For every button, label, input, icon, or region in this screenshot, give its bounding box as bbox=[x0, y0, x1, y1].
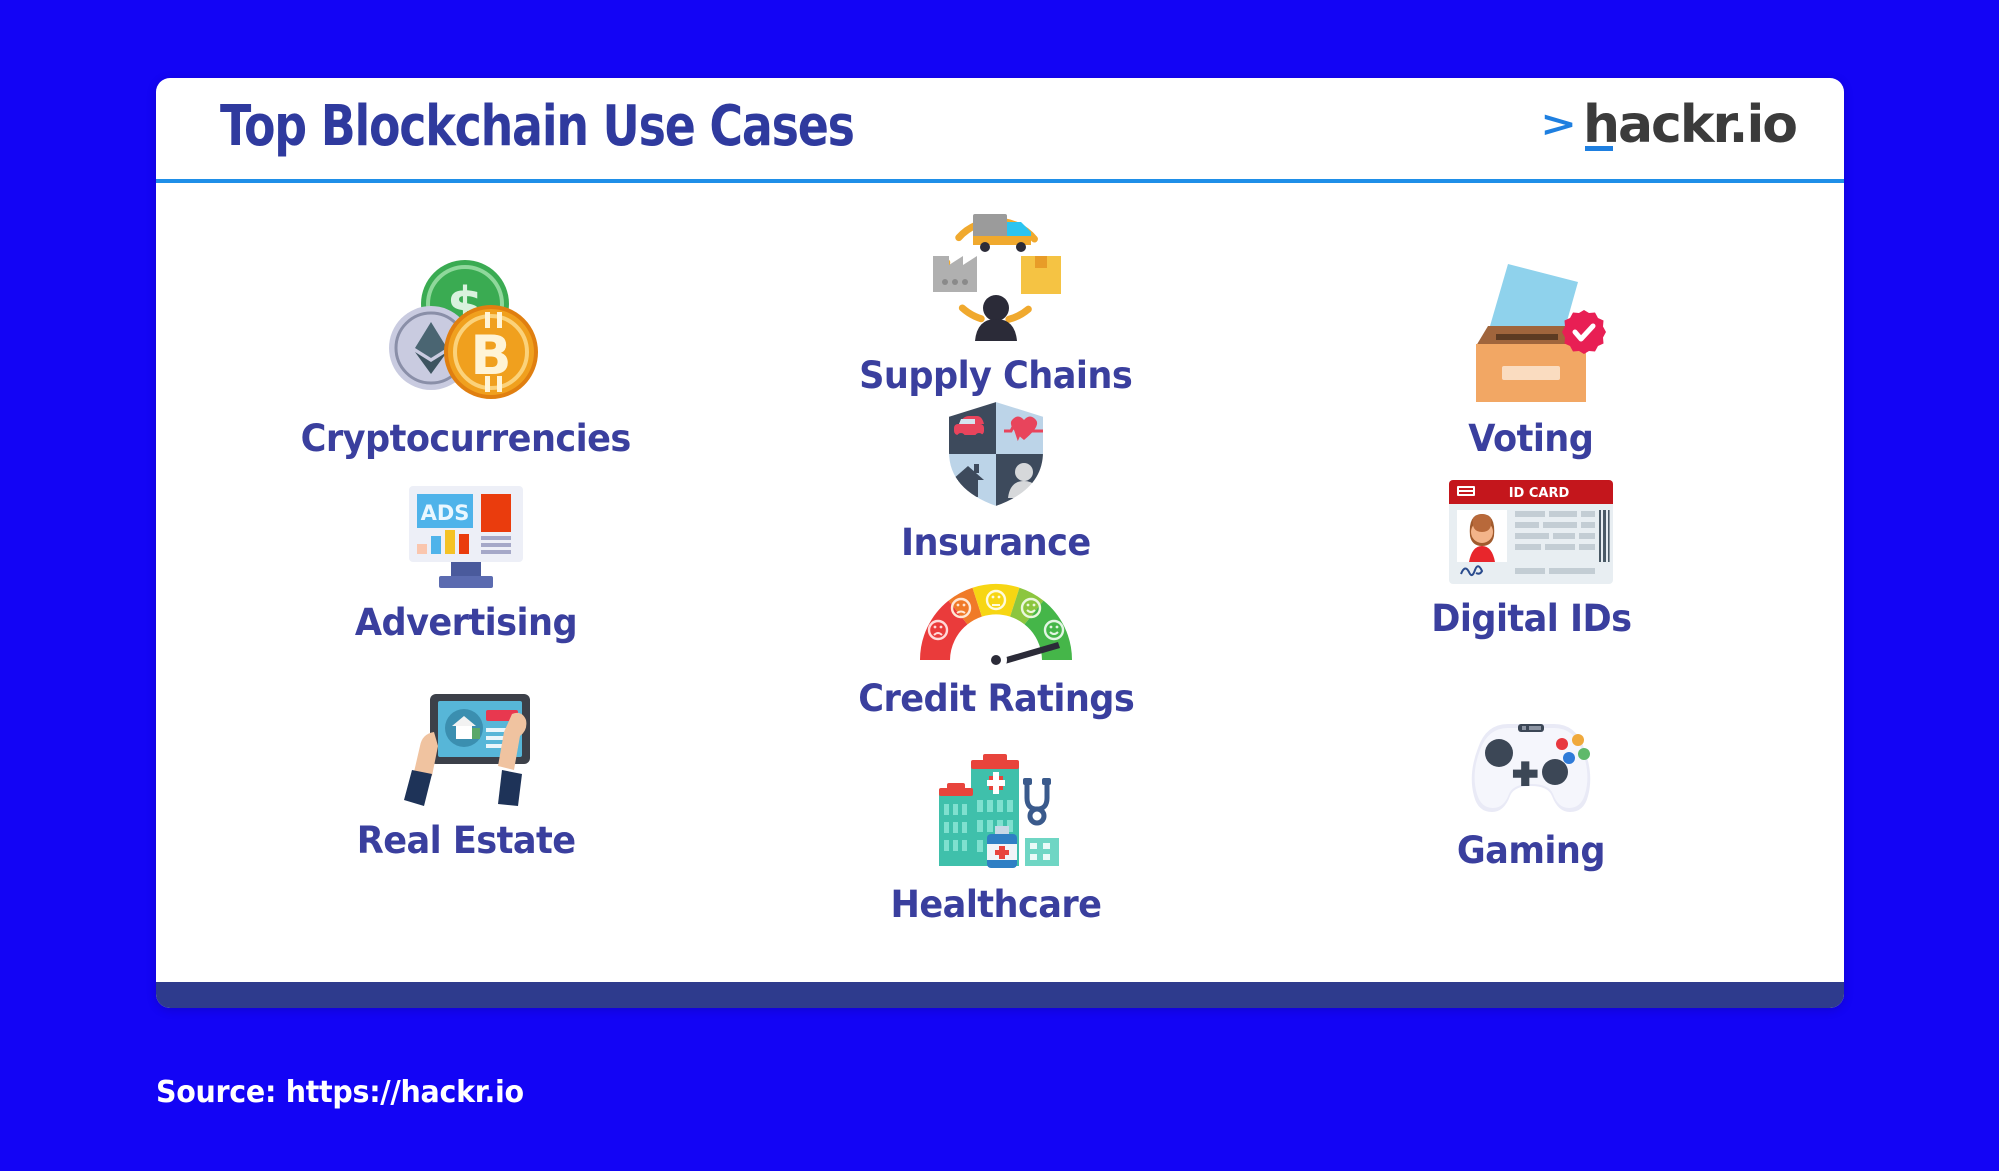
chevron-right-icon: > bbox=[1540, 108, 1577, 143]
use-case-label: Cryptocurrencies bbox=[301, 417, 631, 460]
use-case-column-middle: Supply Chains bbox=[716, 190, 1276, 982]
crypto-coins-icon: $ B bbox=[381, 256, 551, 411]
header-divider bbox=[156, 179, 1844, 183]
id-card-icon: ID CARD bbox=[1447, 478, 1615, 591]
source-attribution: Source: https://hackr.io bbox=[156, 1075, 524, 1110]
ads-monitor-icon: ADS bbox=[401, 480, 531, 595]
use-case-label: Digital IDs bbox=[1431, 597, 1631, 640]
use-case-credit-ratings[interactable]: Credit Ratings bbox=[716, 578, 1276, 720]
use-case-label: Supply Chains bbox=[859, 354, 1132, 397]
use-case-cryptocurrencies[interactable]: $ B Cryptocurrenc bbox=[186, 256, 746, 460]
svg-text:B: B bbox=[470, 324, 511, 387]
logo-text: hackr.io bbox=[1583, 98, 1796, 153]
use-case-healthcare[interactable]: Healthcare bbox=[716, 752, 1276, 926]
use-case-voting[interactable]: Voting bbox=[1251, 254, 1811, 460]
ads-banner-text: ADS bbox=[421, 501, 470, 525]
id-card-header-text: ID CARD bbox=[1509, 486, 1570, 501]
logo-wordmark: hackr.io bbox=[1583, 95, 1796, 155]
use-case-label: Gaming bbox=[1457, 829, 1605, 872]
ballot-box-icon bbox=[1456, 254, 1606, 411]
hackr-logo[interactable]: > hackr.io bbox=[1540, 98, 1796, 153]
page-title: Top Blockchain Use Cases bbox=[220, 94, 854, 159]
use-case-digital-ids[interactable]: ID CARD bbox=[1251, 478, 1811, 640]
card-bottom-bar bbox=[156, 982, 1844, 1008]
use-case-supply-chains[interactable]: Supply Chains bbox=[716, 208, 1276, 397]
card-header: Top Blockchain Use Cases > hackr.io bbox=[156, 78, 1844, 182]
use-case-label: Advertising bbox=[355, 601, 577, 644]
tablet-house-icon bbox=[386, 688, 546, 813]
infographic-card: Top Blockchain Use Cases > hackr.io $ bbox=[156, 78, 1844, 1008]
hospital-icon bbox=[931, 752, 1061, 877]
logo-underline-accent bbox=[1585, 146, 1613, 151]
use-case-column-right: Voting ID CARD bbox=[1251, 190, 1811, 982]
insurance-shield-icon bbox=[940, 398, 1052, 515]
use-case-column-left: $ B Cryptocurrenc bbox=[186, 190, 746, 982]
use-case-insurance[interactable]: Insurance bbox=[716, 398, 1276, 564]
use-case-gaming[interactable]: Gaming bbox=[1251, 708, 1811, 872]
use-case-real-estate[interactable]: Real Estate bbox=[186, 688, 746, 862]
use-case-label: Credit Ratings bbox=[858, 677, 1134, 720]
game-controller-icon bbox=[1456, 708, 1606, 823]
supply-chain-cycle-icon bbox=[921, 208, 1071, 348]
use-case-label: Healthcare bbox=[891, 883, 1102, 926]
use-case-label: Real Estate bbox=[357, 819, 576, 862]
use-case-label: Insurance bbox=[901, 521, 1091, 564]
credit-gauge-icon bbox=[916, 578, 1076, 671]
use-case-grid: $ B Cryptocurrenc bbox=[156, 190, 1844, 982]
use-case-advertising[interactable]: ADS Advertising bbox=[186, 480, 746, 644]
use-case-label: Voting bbox=[1468, 417, 1593, 460]
